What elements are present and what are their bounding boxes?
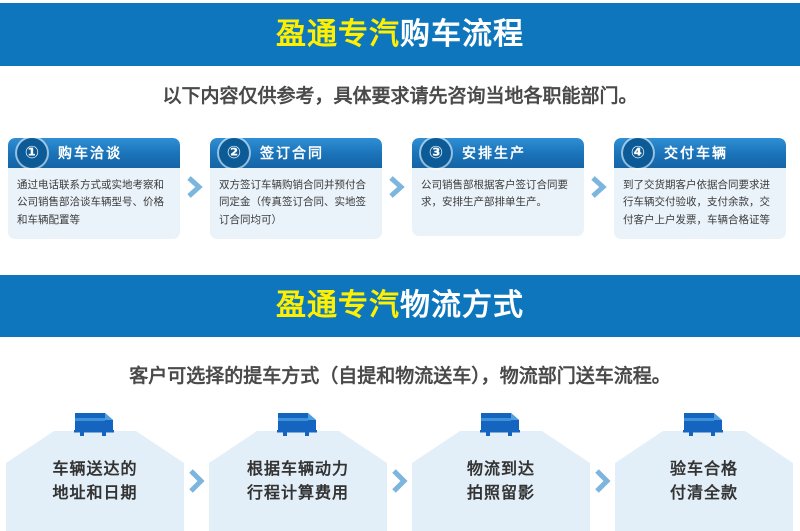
flow-arrow-3 <box>590 431 615 531</box>
brand-text: 盈通专汽 <box>276 288 400 323</box>
flow-line-1: 车辆送达的 <box>52 457 137 481</box>
flow-line-1: 根据车辆动力 <box>247 457 349 481</box>
step-card-2[interactable]: ② 签订合同 双方签订车辆购销合同并预付合同定金（传真签订合同、实地签订合同均可… <box>210 138 382 239</box>
step-number-badge: ② <box>219 138 249 168</box>
banner-rest-text: 物流方式 <box>400 288 524 323</box>
flow-arrow-2 <box>387 431 412 531</box>
flow-shape-3: 物流到达 拍照留影 <box>412 431 590 531</box>
step-body: 通过电话联系方式或实地考察和公司销售部洽谈车辆型号、价格和车辆配置等 <box>8 168 180 239</box>
flow-shape-1: 车辆送达的 地址和日期 <box>6 431 184 531</box>
truck-icon <box>478 410 524 438</box>
step-body: 公司销售部根据客户签订合同要求，安排生产部排单生产。 <box>412 168 584 222</box>
step-title: 交付车辆 <box>664 143 728 163</box>
logistics-banner: 盈通专汽物流方式 <box>0 275 800 337</box>
step-number-badge: ③ <box>421 138 451 168</box>
banner-rest-text: 购车流程 <box>400 17 524 52</box>
purchase-banner: 盈通专汽购车流程 <box>0 3 800 66</box>
brand-text: 盈通专汽 <box>276 17 400 52</box>
flow-line-2: 行程计算费用 <box>247 481 349 505</box>
step-number-badge: ① <box>17 138 47 168</box>
step-card-2-header: ② 签订合同 <box>210 138 382 168</box>
purchase-logistics-infographic: 盈通专汽购车流程 以下内容仅供参考，具体要求请先咨询当地各职能部门。 ① 购车洽… <box>0 0 800 531</box>
step-arrow-2 <box>382 138 412 236</box>
chevron-right-icon <box>592 467 614 495</box>
step-card-3[interactable]: ③ 安排生产 公司销售部根据客户签订合同要求，安排生产部排单生产。 <box>412 138 584 236</box>
flow-shape-4: 验车合格 付清全款 <box>615 431 793 531</box>
step-card-3-header: ③ 安排生产 <box>412 138 584 168</box>
step-title: 签订合同 <box>260 143 324 163</box>
purchase-subtitle: 以下内容仅供参考，具体要求请先咨询当地各职能部门。 <box>0 81 800 108</box>
truck-icon <box>275 410 321 438</box>
chevron-right-icon <box>186 467 208 495</box>
purchase-steps: ① 购车洽谈 通过电话联系方式或实地考察和公司销售部洽谈车辆型号、价格和车辆配置… <box>8 138 792 243</box>
step-title: 购车洽谈 <box>58 143 122 163</box>
flow-line-2: 拍照留影 <box>467 481 535 505</box>
step-title: 安排生产 <box>462 143 526 163</box>
purchase-banner-title: 盈通专汽购车流程 <box>276 20 524 50</box>
flow-cell-3[interactable]: 物流到达 拍照留影 <box>412 410 590 531</box>
truck-icon <box>72 410 118 438</box>
step-card-4[interactable]: ④ 交付车辆 到了交货期客户依据合同要求进行车辆交付验收，支付余款，交付客户上户… <box>614 138 786 239</box>
truck-icon <box>681 410 727 438</box>
flow-line-2: 付清全款 <box>670 481 738 505</box>
flow-cell-2[interactable]: 根据车辆动力 行程计算费用 <box>209 410 387 531</box>
flow-line-1: 物流到达 <box>467 457 535 481</box>
step-card-1-header: ① 购车洽谈 <box>8 138 180 168</box>
flow-shape-2: 根据车辆动力 行程计算费用 <box>209 431 387 531</box>
step-card-4-header: ④ 交付车辆 <box>614 138 786 168</box>
step-number-badge: ④ <box>623 138 653 168</box>
logistics-subtitle: 客户可选择的提车方式（自提和物流送车），物流部门送车流程。 <box>0 361 800 388</box>
step-body: 双方签订车辆购销合同并预付合同定金（传真签订合同、实地签订合同均可） <box>210 168 382 239</box>
flow-cell-1[interactable]: 车辆送达的 地址和日期 <box>6 410 184 531</box>
step-arrow-1 <box>180 138 210 236</box>
chevron-right-icon <box>387 174 407 200</box>
flow-arrow-1 <box>184 431 209 531</box>
chevron-right-icon <box>185 174 205 200</box>
flow-cell-4[interactable]: 验车合格 付清全款 <box>615 410 793 531</box>
step-arrow-3 <box>584 138 614 236</box>
chevron-right-icon <box>389 467 411 495</box>
step-body: 到了交货期客户依据合同要求进行车辆交付验收，支付余款，交付客户上户发票，车辆合格… <box>614 168 786 239</box>
flow-line-2: 地址和日期 <box>52 481 137 505</box>
chevron-right-icon <box>589 174 609 200</box>
logistics-banner-title: 盈通专汽物流方式 <box>276 291 524 321</box>
flow-line-1: 验车合格 <box>670 457 738 481</box>
logistics-flow: 车辆送达的 地址和日期 根据车辆动力 行程计算费用 <box>6 410 794 531</box>
step-card-1[interactable]: ① 购车洽谈 通过电话联系方式或实地考察和公司销售部洽谈车辆型号、价格和车辆配置… <box>8 138 180 239</box>
